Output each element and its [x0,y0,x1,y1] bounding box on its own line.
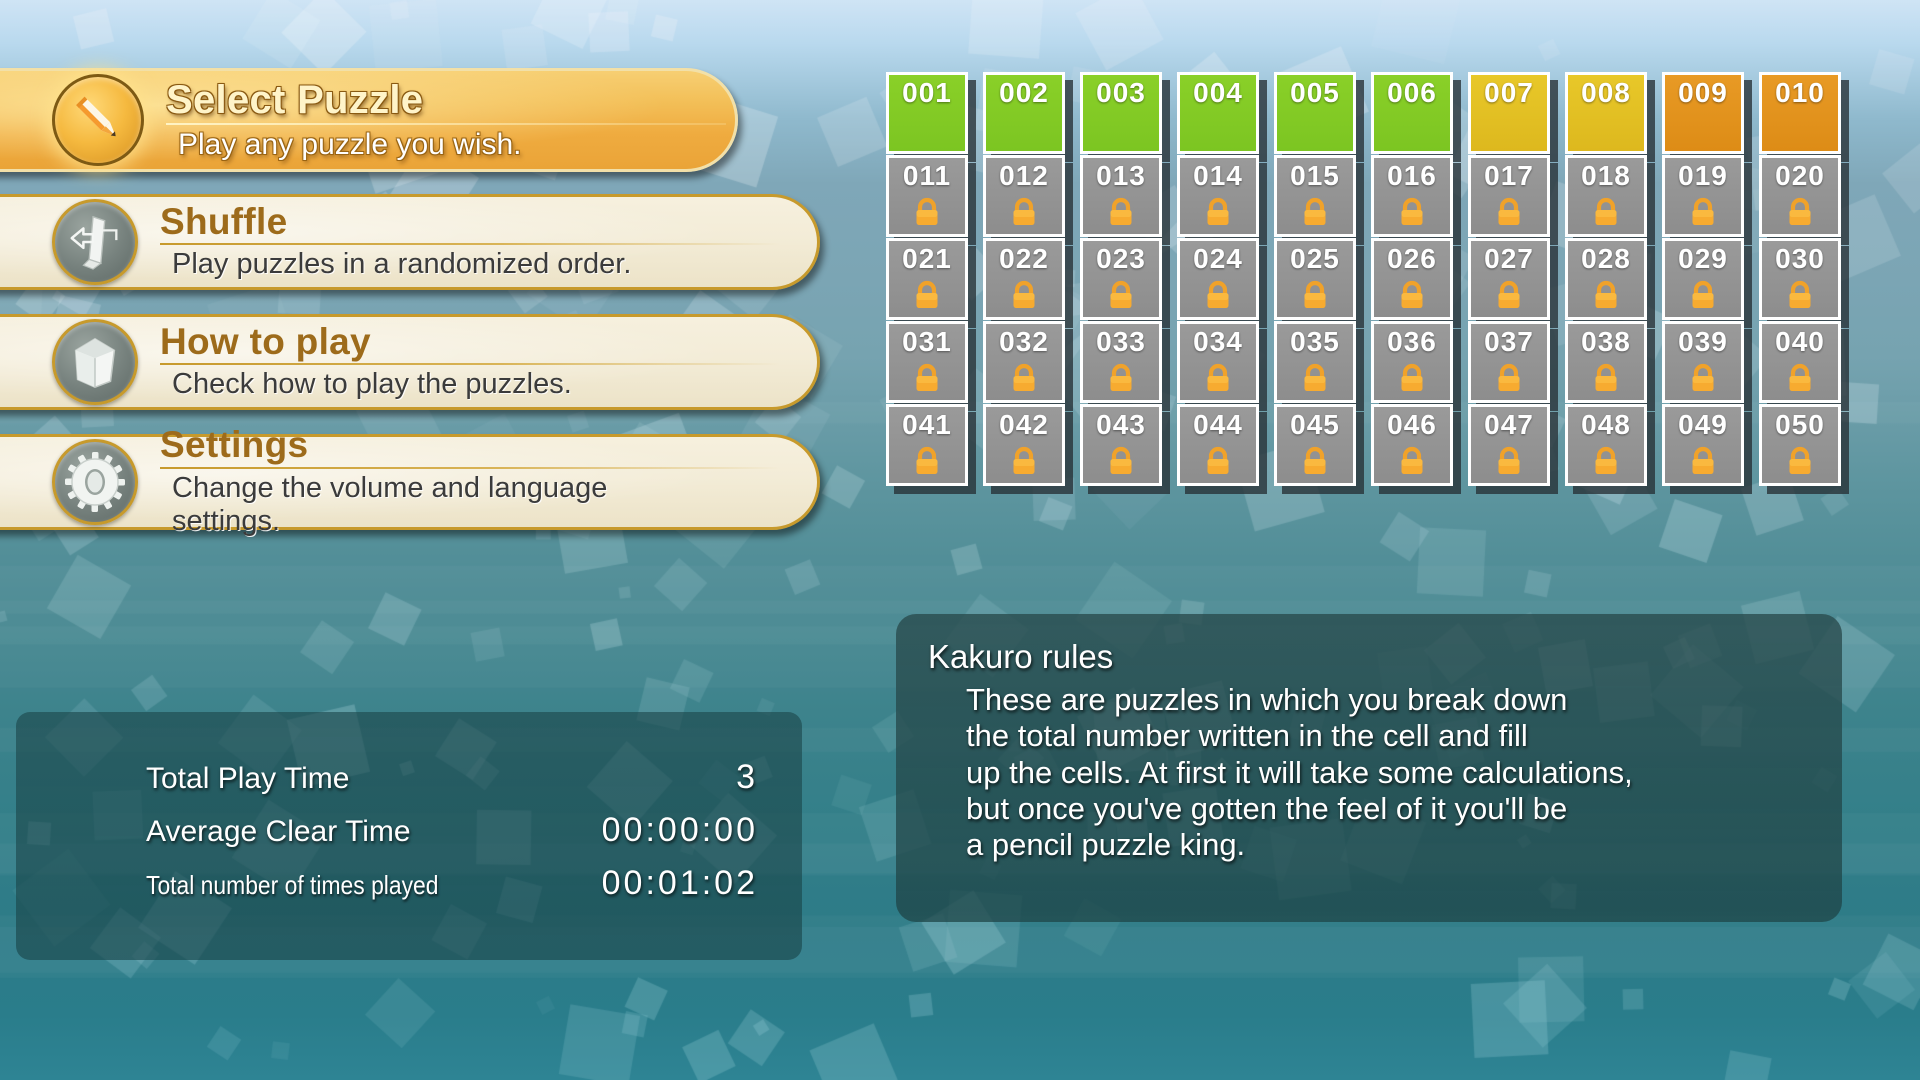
puzzle-tile[interactable]: 035 [1274,321,1356,403]
menu-item-select-puzzle[interactable]: Select PuzzlePlay any puzzle you wish. [0,68,880,172]
puzzle-tile[interactable]: 021 [886,238,968,320]
puzzle-tile[interactable]: 028 [1565,238,1647,320]
menu-item-text: How to playCheck how to play the puzzles… [160,323,720,402]
puzzle-tile[interactable]: 029 [1662,238,1744,320]
puzzle-tile-number: 039 [1678,328,1728,356]
padlock-icon [1009,445,1039,477]
padlock-icon [1494,279,1524,311]
menu-item-title: How to play [160,323,720,362]
padlock-icon [1785,279,1815,316]
puzzle-tile[interactable]: 047 [1468,404,1550,486]
puzzle-tile-number: 046 [1387,411,1437,439]
padlock-icon [1785,445,1815,477]
padlock-icon [1785,362,1815,394]
puzzle-tile-number: 047 [1484,411,1534,439]
stats-label: Total Play Time [146,762,526,796]
puzzle-tile-number: 018 [1581,162,1631,190]
padlock-icon [1494,362,1524,394]
puzzle-tile-number: 002 [999,79,1049,107]
stats-value: 3 [526,758,758,797]
puzzle-tile-number: 021 [902,245,952,273]
padlock-icon [1009,196,1039,233]
puzzle-tile-number: 011 [903,162,951,190]
puzzle-tile[interactable]: 016 [1371,155,1453,237]
puzzle-tile[interactable]: 039 [1662,321,1744,403]
puzzle-tile-number: 028 [1581,245,1631,273]
puzzle-tile-number: 004 [1193,79,1243,107]
puzzle-tile[interactable]: 024 [1177,238,1259,320]
padlock-icon [1203,362,1233,399]
padlock-icon [1494,445,1524,482]
puzzle-tile-number: 038 [1581,328,1631,356]
padlock-icon [1009,362,1039,394]
puzzle-tile-number: 042 [999,411,1049,439]
puzzle-tile-number: 012 [999,162,1049,190]
menu-item-divider [160,363,780,365]
padlock-icon [1009,362,1039,399]
padlock-icon [1688,196,1718,228]
puzzle-tile[interactable]: 042 [983,404,1065,486]
padlock-icon [912,362,942,399]
padlock-icon [912,362,942,394]
puzzle-tile-number: 016 [1387,162,1437,190]
puzzle-tile-number: 030 [1775,245,1825,273]
padlock-icon [1494,279,1524,316]
book-icon [52,319,138,405]
puzzle-tile[interactable]: 014 [1177,155,1259,237]
puzzle-tile[interactable]: 017 [1468,155,1550,237]
menu-item-title: Settings [160,426,720,465]
menu-item-title: Select Puzzle [166,79,726,121]
puzzle-tile-number: 005 [1290,79,1340,107]
padlock-icon [1300,445,1330,477]
puzzle-tile-number: 019 [1678,162,1728,190]
padlock-icon [1300,279,1330,311]
puzzle-tile-number: 008 [1581,79,1631,107]
padlock-icon [912,445,942,482]
puzzle-tile[interactable]: 020 [1759,155,1841,237]
padlock-icon [1300,196,1330,233]
puzzle-tile-number: 025 [1290,245,1340,273]
padlock-icon [1300,445,1330,482]
puzzle-tile-number: 015 [1290,162,1340,190]
puzzle-tile[interactable]: 023 [1080,238,1162,320]
puzzle-tile-number: 020 [1775,162,1825,190]
padlock-icon [1106,279,1136,316]
padlock-icon [1300,362,1330,394]
rules-panel: Kakuro rules These are puzzles in which … [896,614,1842,922]
padlock-icon [1300,196,1330,228]
rules-body: These are puzzles in which you break dow… [928,682,1812,863]
puzzle-tile-number: 027 [1484,245,1534,273]
padlock-icon [1203,362,1233,394]
padlock-icon [1009,279,1039,316]
padlock-icon [1688,279,1718,316]
puzzle-tile-number: 006 [1387,79,1437,107]
padlock-icon [1785,279,1815,311]
shuffle-arrow-icon [64,211,126,273]
puzzle-tile-number: 029 [1678,245,1728,273]
puzzle-tile-number: 041 [902,411,952,439]
puzzle-tile[interactable]: 001 [886,72,968,154]
puzzle-tile[interactable]: 005 [1274,72,1356,154]
stats-row: Total number of times played00:01:02 [146,864,758,903]
padlock-icon [1785,196,1815,228]
puzzle-tile[interactable]: 026 [1371,238,1453,320]
padlock-icon [1591,445,1621,482]
menu-item-description: Check how to play the puzzles. [160,368,720,401]
puzzle-tile[interactable]: 002 [983,72,1065,154]
padlock-icon [1397,279,1427,311]
puzzle-tile-number: 037 [1484,328,1534,356]
puzzle-tile[interactable]: 015 [1274,155,1356,237]
puzzle-tile[interactable]: 041 [886,404,968,486]
puzzle-tile-number: 040 [1775,328,1825,356]
puzzle-tile[interactable]: 038 [1565,321,1647,403]
padlock-icon [1203,279,1233,311]
puzzle-tile-number: 022 [999,245,1049,273]
main-menu: Select PuzzlePlay any puzzle you wish.Sh… [0,68,880,554]
puzzle-grid: 0010020030040050060070080090100110120130… [886,72,1855,486]
puzzle-tile[interactable]: 027 [1468,238,1550,320]
padlock-icon [1785,196,1815,233]
padlock-icon [1591,279,1621,316]
menu-item-divider [160,243,780,245]
padlock-icon [1494,196,1524,228]
puzzle-tile[interactable]: 012 [983,155,1065,237]
padlock-icon [1106,196,1136,228]
stats-label: Average Clear Time [146,815,526,849]
padlock-icon [1106,362,1136,394]
padlock-icon [912,279,942,311]
gear-icon [52,439,138,525]
padlock-icon [912,196,942,228]
padlock-icon [1203,196,1233,233]
puzzle-tile[interactable]: 010 [1759,72,1841,154]
puzzle-tile[interactable]: 040 [1759,321,1841,403]
puzzle-tile[interactable]: 013 [1080,155,1162,237]
puzzle-tile-number: 049 [1678,411,1728,439]
menu-item-text: ShufflePlay puzzles in a randomized orde… [160,203,720,282]
padlock-icon [1785,445,1815,482]
padlock-icon [1106,279,1136,311]
puzzle-tile-number: 023 [1096,245,1146,273]
padlock-icon [1397,362,1427,394]
padlock-icon [1203,279,1233,316]
padlock-icon [1203,445,1233,482]
padlock-icon [1106,445,1136,482]
puzzle-tile[interactable]: 048 [1565,404,1647,486]
padlock-icon [1009,196,1039,228]
padlock-icon [1203,445,1233,477]
padlock-icon [1688,279,1718,311]
puzzle-tile-number: 007 [1484,79,1534,107]
padlock-icon [1591,362,1621,399]
stats-label: Total number of times played [146,870,480,901]
puzzle-tile[interactable]: 025 [1274,238,1356,320]
padlock-icon [1397,279,1427,316]
puzzle-tile[interactable]: 003 [1080,72,1162,154]
puzzle-tile-number: 050 [1775,411,1825,439]
puzzle-tile-number: 044 [1193,411,1243,439]
puzzle-tile-number: 032 [999,328,1049,356]
puzzle-tile-number: 034 [1193,328,1243,356]
stats-value: 00:00:00 [526,811,758,850]
padlock-icon [912,445,942,477]
gear-icon [63,450,127,514]
puzzle-tile[interactable]: 044 [1177,404,1259,486]
puzzle-tile-number: 003 [1096,79,1146,107]
padlock-icon [1494,445,1524,477]
puzzle-tile-number: 035 [1290,328,1340,356]
stats-row: Average Clear Time00:00:00 [146,811,758,850]
padlock-icon [1300,362,1330,399]
puzzle-tile[interactable]: 007 [1468,72,1550,154]
stats-value: 00:01:02 [526,864,758,903]
book-icon [64,331,126,393]
puzzle-tile[interactable]: 043 [1080,404,1162,486]
padlock-icon [1591,362,1621,394]
menu-item-settings[interactable]: SettingsChange the volume and language s… [0,434,880,530]
puzzle-tile[interactable]: 018 [1565,155,1647,237]
puzzle-tile[interactable]: 037 [1468,321,1550,403]
padlock-icon [1009,445,1039,482]
puzzle-tile[interactable]: 033 [1080,321,1162,403]
padlock-icon [1397,362,1427,399]
padlock-icon [1494,362,1524,399]
puzzle-tile-number: 031 [902,328,952,356]
menu-item-text: SettingsChange the volume and language s… [160,426,720,538]
padlock-icon [912,196,942,233]
padlock-icon [1688,445,1718,482]
padlock-icon [1106,362,1136,399]
menu-item-how-to-play[interactable]: How to playCheck how to play the puzzles… [0,314,880,410]
menu-item-description: Play puzzles in a randomized order. [160,248,720,281]
menu-item-divider [166,123,726,125]
puzzle-tile[interactable]: 034 [1177,321,1259,403]
puzzle-tile-number: 033 [1096,328,1146,356]
puzzle-tile[interactable]: 008 [1565,72,1647,154]
padlock-icon [1106,445,1136,477]
menu-item-divider [160,467,780,469]
puzzle-tile[interactable]: 032 [983,321,1065,403]
puzzle-tile-number: 026 [1387,245,1437,273]
stats-row: Total Play Time3 [146,758,758,797]
padlock-icon [1397,445,1427,477]
puzzle-tile[interactable]: 031 [886,321,968,403]
puzzle-tile-number: 010 [1775,79,1825,107]
padlock-icon [1106,196,1136,233]
padlock-icon [1785,362,1815,399]
puzzle-tile[interactable]: 045 [1274,404,1356,486]
padlock-icon [1009,279,1039,311]
puzzle-tile-number: 009 [1678,79,1728,107]
padlock-icon [1300,279,1330,316]
puzzle-tile-number: 014 [1193,162,1243,190]
pencil-icon [66,88,130,152]
puzzle-tile-number: 001 [902,79,952,107]
pencil-icon [52,74,144,166]
padlock-icon [1688,445,1718,477]
menu-item-shuffle[interactable]: ShufflePlay puzzles in a randomized orde… [0,194,880,290]
puzzle-tile-number: 048 [1581,411,1631,439]
padlock-icon [1591,445,1621,477]
puzzle-tile[interactable]: 050 [1759,404,1841,486]
shuffle-arrow-icon [52,199,138,285]
padlock-icon [1397,196,1427,233]
padlock-icon [1203,196,1233,228]
puzzle-tile[interactable]: 030 [1759,238,1841,320]
padlock-icon [1494,196,1524,233]
rules-title: Kakuro rules [928,638,1812,676]
puzzle-tile[interactable]: 004 [1177,72,1259,154]
puzzle-tile[interactable]: 022 [983,238,1065,320]
puzzle-tile[interactable]: 049 [1662,404,1744,486]
menu-item-description: Change the volume and language settings. [160,472,720,538]
padlock-icon [1591,196,1621,233]
puzzle-tile[interactable]: 046 [1371,404,1453,486]
puzzle-tile-number: 036 [1387,328,1437,356]
padlock-icon [1397,445,1427,482]
puzzle-tile-number: 043 [1096,411,1146,439]
menu-item-title: Shuffle [160,203,720,242]
padlock-icon [1397,196,1427,228]
stats-panel: Total Play Time3Average Clear Time00:00:… [16,712,802,960]
padlock-icon [1591,196,1621,228]
puzzle-tile[interactable]: 036 [1371,321,1453,403]
menu-item-text: Select PuzzlePlay any puzzle you wish. [166,79,726,162]
menu-item-description: Play any puzzle you wish. [166,128,726,162]
puzzle-tile-number: 017 [1484,162,1534,190]
padlock-icon [1591,279,1621,311]
puzzle-tile-number: 013 [1096,162,1146,190]
padlock-icon [1688,362,1718,399]
puzzle-tile-number: 024 [1193,245,1243,273]
puzzle-tile[interactable]: 006 [1371,72,1453,154]
padlock-icon [1688,196,1718,233]
puzzle-tile-number: 045 [1290,411,1340,439]
puzzle-tile[interactable]: 011 [886,155,968,237]
padlock-icon [912,279,942,316]
padlock-icon [1688,362,1718,394]
puzzle-tile[interactable]: 019 [1662,155,1744,237]
puzzle-tile[interactable]: 009 [1662,72,1744,154]
